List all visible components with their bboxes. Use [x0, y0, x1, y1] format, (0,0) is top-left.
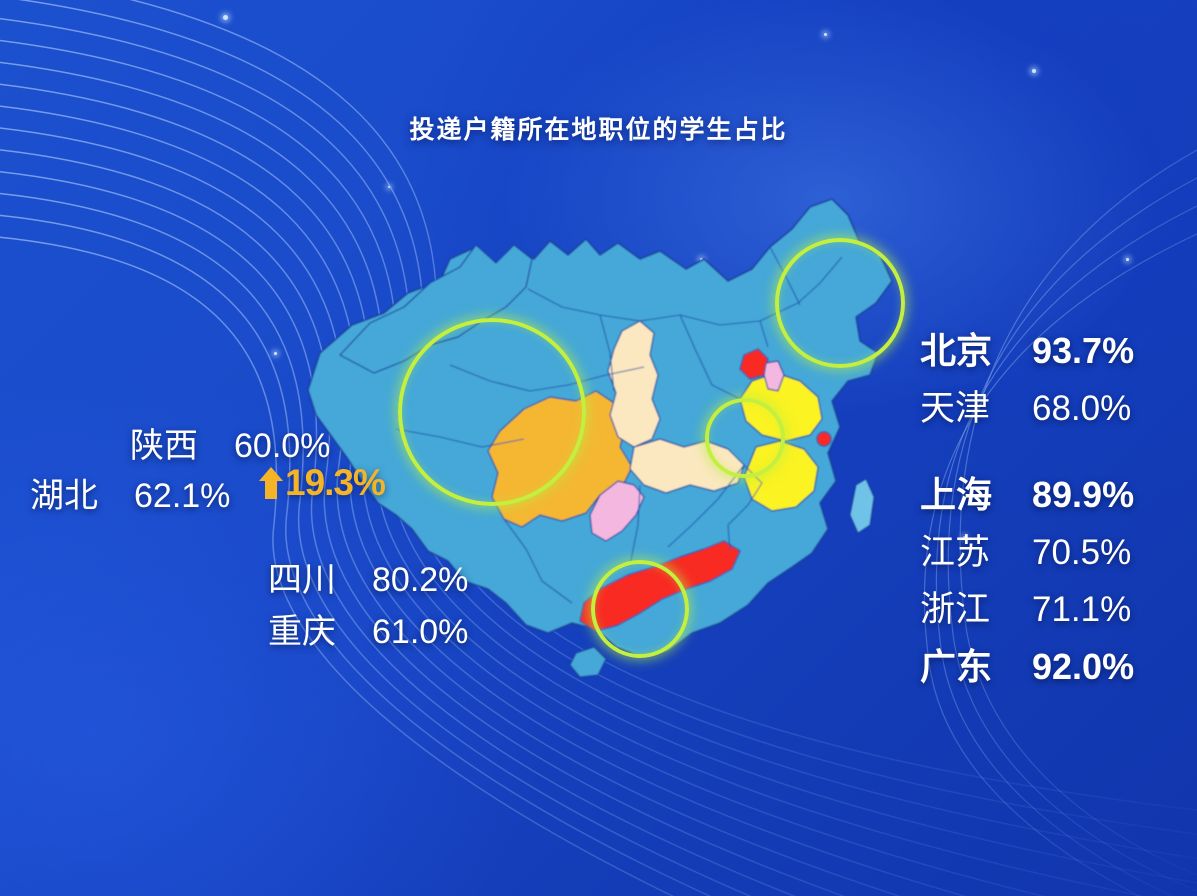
stat-beijing: 北京 93.7% [920, 322, 1134, 374]
stat-hubei-value: 62.1% [134, 477, 230, 516]
stat-zhejiang-value: 71.1% [1032, 590, 1131, 630]
stat-guangdong: 广东 92.0% [920, 638, 1134, 690]
highlight-circle-northwest [398, 318, 586, 506]
stat-sichuan-name: 四川 [268, 552, 372, 601]
stat-beijing-value: 93.7% [1032, 330, 1134, 372]
infographic-canvas: 投递户籍所在地职位的学生占比 陕西 60.0% 湖北 62.1% 四川 80.2… [0, 0, 1197, 896]
stat-sichuan-value: 80.2% [372, 561, 468, 600]
stat-chongqing-value: 61.0% [372, 613, 468, 652]
stat-guangdong-name: 广东 [920, 638, 1032, 690]
highlight-circle-northeast [775, 238, 905, 368]
stat-jiangsu-name: 江苏 [920, 524, 1032, 575]
stat-beijing-name: 北京 [920, 322, 1032, 374]
arrow-up-icon [258, 466, 284, 500]
stat-zhejiang: 浙江 71.1% [920, 581, 1134, 632]
stat-jiangsu: 江苏 70.5% [920, 524, 1134, 575]
stat-group-shanghai: 上海 89.9% 江苏 70.5% 浙江 71.1% [920, 466, 1134, 638]
stat-hubei-name: 湖北 [30, 468, 134, 517]
stat-shanghai-name: 上海 [920, 466, 1032, 518]
stat-shanghai: 上海 89.9% [920, 466, 1134, 518]
stat-hubei: 湖北 62.1% [30, 468, 230, 517]
stat-tianjin-name: 天津 [920, 380, 1032, 431]
highlight-circle-south [591, 560, 689, 658]
stat-tianjin: 天津 68.0% [920, 380, 1134, 431]
stat-group-beijing: 北京 93.7% 天津 68.0% [920, 322, 1134, 437]
stat-shaanxi: 陕西 60.0% [130, 418, 330, 467]
stat-group-guangdong: 广东 92.0% [920, 638, 1134, 696]
page-title: 投递户籍所在地职位的学生占比 [0, 110, 1197, 146]
stat-jiangsu-value: 70.5% [1032, 533, 1131, 573]
delta-badge-value: 19.3% [285, 462, 385, 504]
stat-shaanxi-name: 陕西 [130, 418, 234, 467]
stat-tianjin-value: 68.0% [1032, 389, 1131, 429]
delta-badge: 19.3% [258, 462, 385, 504]
stat-shaanxi-value: 60.0% [234, 427, 330, 466]
stat-sichuan: 四川 80.2% [268, 552, 468, 601]
map-region-shanghai [817, 432, 831, 446]
map-region-taiwan [850, 479, 874, 533]
stat-zhejiang-name: 浙江 [920, 581, 1032, 632]
stat-shanghai-value: 89.9% [1032, 474, 1134, 516]
stat-chongqing-name: 重庆 [268, 604, 372, 653]
map-region-hainan [570, 647, 606, 677]
highlight-circle-central [705, 398, 785, 478]
stat-guangdong-value: 92.0% [1032, 646, 1134, 688]
stat-chongqing: 重庆 61.0% [268, 604, 468, 653]
